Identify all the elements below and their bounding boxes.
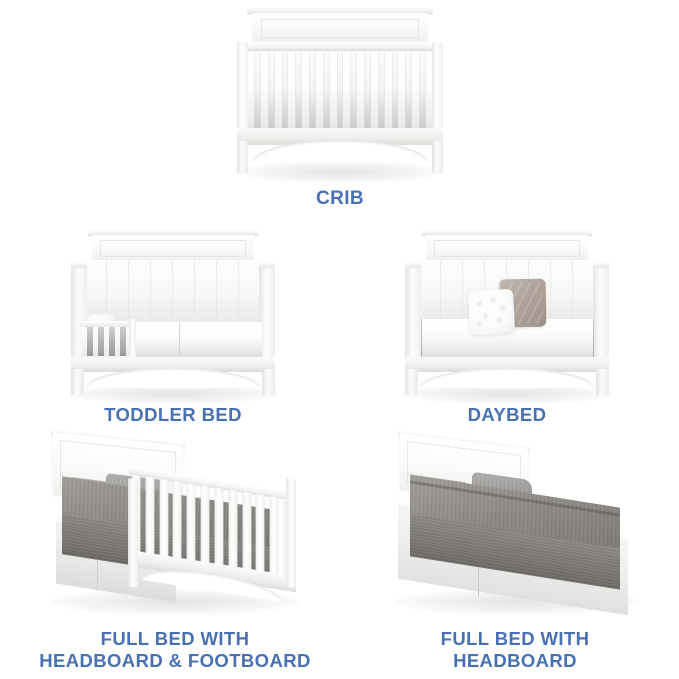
- daybed-arm-right: [593, 261, 609, 366]
- crib-top-rail: [237, 42, 443, 51]
- daybed-icon: [392, 218, 622, 398]
- daybed-pillow-white: [468, 289, 515, 335]
- toddler-bed-icon: [58, 218, 288, 398]
- footboard-post-right: [286, 478, 296, 588]
- conversion-option-toddler-bed[interactable]: TODDLER BED: [28, 212, 318, 427]
- toddler-headboard-panel: [92, 235, 254, 261]
- daybed-leg-left: [405, 369, 418, 395]
- crib-post-left: [237, 42, 248, 142]
- daybed-leg-right: [596, 369, 609, 395]
- footboard-post-left: [128, 478, 138, 588]
- crib-leg-left: [237, 141, 248, 173]
- crib-headboard-panel: [252, 13, 428, 43]
- daybed-label: DAYBED: [468, 404, 547, 427]
- conversion-option-full-bed-headboard[interactable]: FULL BED WITH HEADBOARD: [360, 428, 670, 673]
- conversion-option-daybed[interactable]: DAYBED: [362, 212, 652, 427]
- crib-label: CRIB: [316, 187, 364, 210]
- crib-icon: [225, 1, 455, 181]
- conversion-option-full-bed-headboard-footboard[interactable]: FULL BED WITH HEADBOARD & FOOTBOARD: [20, 428, 330, 673]
- toddler-leg-left: [71, 369, 84, 395]
- daybed-headboard-panel: [426, 235, 588, 261]
- full-bed-headboard-footboard-label: FULL BED WITH HEADBOARD & FOOTBOARD: [39, 628, 311, 673]
- crib-shadow: [237, 161, 443, 183]
- crib-post-right: [432, 42, 443, 142]
- full-bed-headboard-footboard-icon: [40, 427, 310, 622]
- full-bed-headboard-icon: [380, 427, 650, 622]
- daybed-arm-left: [405, 261, 421, 366]
- full-bed-headboard-label: FULL BED WITH HEADBOARD: [441, 628, 590, 673]
- toddler-back-board: [84, 260, 262, 322]
- crib-leg-right: [432, 141, 443, 173]
- crib-slats: [247, 51, 433, 129]
- crib-conversion-chart: CRIB TODDLE: [0, 0, 679, 679]
- conversion-option-crib[interactable]: CRIB: [200, 0, 480, 210]
- guard-rail-slats: [82, 327, 131, 356]
- toddler-leg-right: [262, 369, 275, 395]
- full-bed-hf-footboard: [128, 479, 296, 597]
- toddler-bed-label: TODDLER BED: [104, 404, 242, 427]
- toddler-guard-rail: [79, 321, 134, 362]
